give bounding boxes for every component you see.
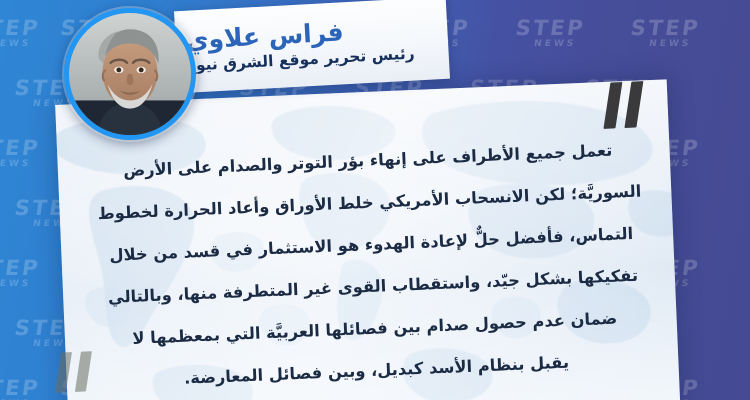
person-name: فراس علاوي: [185, 18, 344, 54]
watermark-step-text: STEP: [0, 138, 41, 159]
watermark-news-text: NEWS: [0, 40, 38, 49]
watermark-step-text: STEP: [0, 18, 41, 39]
watermark-news-text: NEWS: [642, 40, 698, 49]
watermark-news-text: NEWS: [0, 160, 38, 169]
watermark-step-text: STEP: [514, 18, 586, 39]
watermark-step-text: STEP: [629, 18, 701, 39]
watermark-step-text: STEP: [0, 258, 41, 279]
name-banner: فراس علاوي رئيس تحرير موقع الشرق نيوز: [174, 0, 450, 93]
step-news-watermark: STEPNEWS: [0, 378, 41, 400]
step-news-watermark: STEPNEWS: [513, 18, 587, 49]
step-news-watermark: STEPNEWS: [0, 258, 41, 289]
quote-text: تعمل جميع الأطراف على إنهاء بؤر التوتر و…: [91, 128, 653, 400]
watermark-news-text: NEWS: [0, 280, 38, 289]
watermark-news-text: NEWS: [527, 40, 583, 49]
step-news-watermark: STEPNEWS: [0, 18, 41, 49]
avatar: [64, 8, 196, 140]
step-news-watermark: STEPNEWS: [0, 138, 41, 169]
step-news-watermark: STEPNEWS: [628, 18, 702, 49]
quote-card-graphic: STEPNEWSSTEPNEWSSTEPNEWSSTEPNEWSSTEPNEWS…: [0, 0, 750, 400]
watermark-step-text: STEP: [0, 378, 41, 399]
